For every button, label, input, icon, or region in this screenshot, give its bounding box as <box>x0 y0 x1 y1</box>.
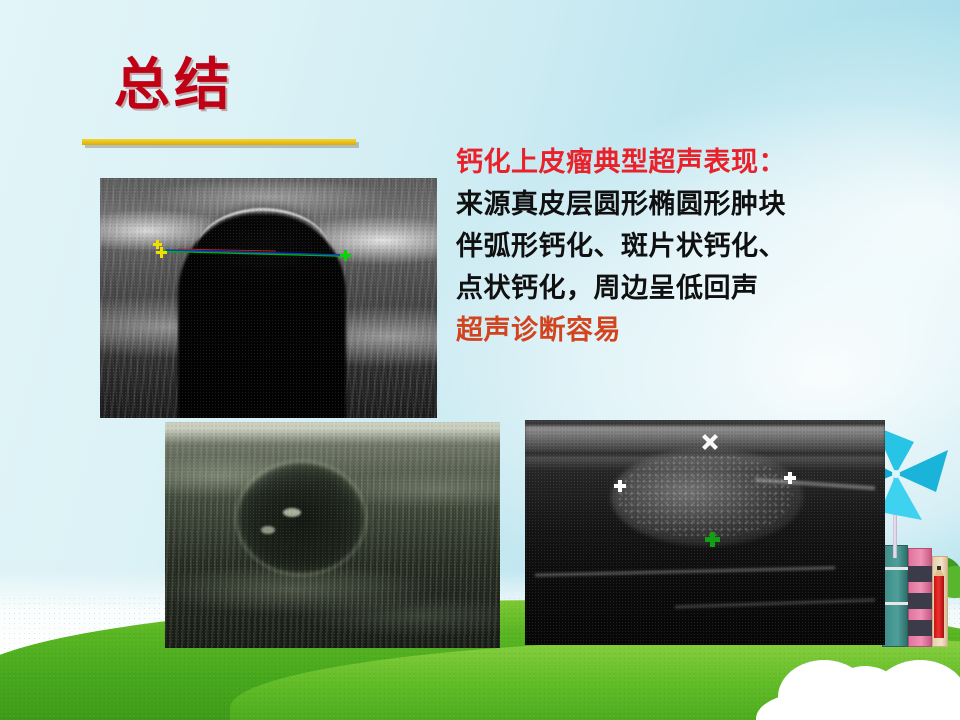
ultrasound-image-2 <box>165 422 500 648</box>
summary-line-2: 来源真皮层圆形椭圆形肿块 <box>456 184 866 226</box>
presentation-slide: 总结 钙化上皮瘤典型超声表现： 来源真皮层圆形椭圆形肿块 伴弧形钙化、斑片状钙化… <box>0 0 960 720</box>
summary-line-3: 伴弧形钙化、斑片状钙化、 <box>456 226 866 268</box>
summary-line-4: 点状钙化，周边呈低回声 <box>456 268 866 310</box>
summary-line-1: 钙化上皮瘤典型超声表现： <box>456 142 866 184</box>
ultrasound-image-1 <box>100 178 437 418</box>
ultrasound-image-3 <box>525 420 885 645</box>
title-underline-rule <box>82 139 356 145</box>
summary-text-block: 钙化上皮瘤典型超声表现： 来源真皮层圆形椭圆形肿块 伴弧形钙化、斑片状钙化、 点… <box>456 142 866 352</box>
summary-line-5: 超声诊断容易 <box>456 310 866 352</box>
page-title: 总结 <box>114 58 234 114</box>
